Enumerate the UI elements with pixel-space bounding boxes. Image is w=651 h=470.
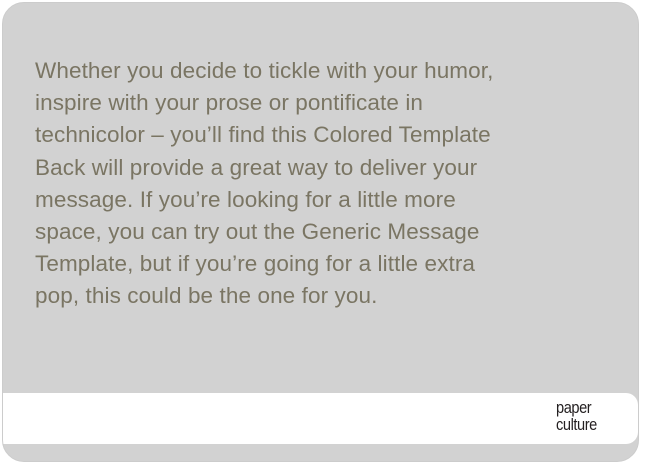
paper-culture-logo: paper culture (556, 399, 604, 433)
logo-line-culture: culture (556, 416, 597, 434)
footer-white-band: paper culture (3, 393, 638, 444)
colored-template-back-card: Whether you decide to tickle with your h… (2, 2, 639, 462)
message-body-text: Whether you decide to tickle with your h… (35, 55, 615, 313)
